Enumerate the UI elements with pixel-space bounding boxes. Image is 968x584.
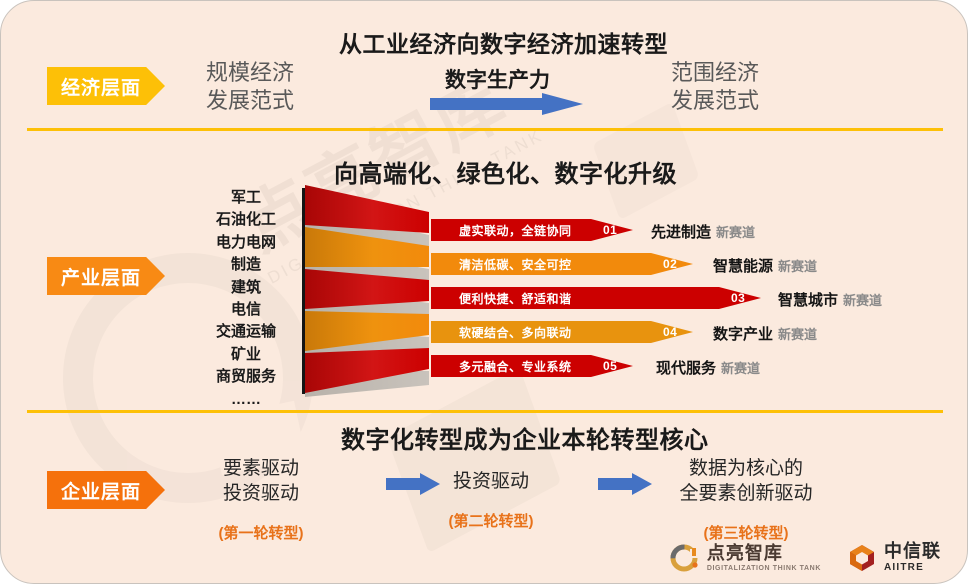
footer-logos: 点亮智库 DIGITALIZATION THINK TANK 中信联 AIITR… <box>670 542 941 573</box>
track-target-3: 智慧城市 <box>778 289 838 310</box>
track-tag-3: 新赛道 <box>843 290 882 309</box>
sector-item: 军工 <box>187 187 305 209</box>
track-target-4: 数字产业 <box>713 323 773 344</box>
stage-3-line2: 全要素创新驱动 <box>651 481 841 506</box>
enterprise-stage-1: 要素驱动 投资驱动 (第一轮转型) <box>181 456 341 543</box>
track-tag-4: 新赛道 <box>778 324 817 343</box>
infographic-slide: 点亮智库 DIGITALIZATION THINK TANK 经济层面 从工业经… <box>0 0 968 584</box>
divider-economy-industry <box>27 128 943 131</box>
sector-item: 建筑 <box>187 277 305 299</box>
economy-right-line1: 范围经济 <box>671 59 759 87</box>
sector-item: 交通运输 <box>187 321 305 343</box>
logo-dianliang-en: DIGITALIZATION THINK TANK <box>707 565 821 572</box>
logo-dianliang: 点亮智库 DIGITALIZATION THINK TANK <box>670 543 821 573</box>
dianliang-mark-icon <box>670 543 700 573</box>
industry-track-label-5: 现代服务 新赛道 <box>656 357 760 378</box>
track-number-4: 04 <box>663 321 677 343</box>
layer-badge-industry: 产业层面 <box>47 257 165 295</box>
track-target-5: 现代服务 <box>656 357 716 378</box>
stage-1-line2: 投资驱动 <box>181 481 341 506</box>
enterprise-stage-3: 数据为核心的 全要素创新驱动 (第三轮转型) <box>651 456 841 543</box>
stage-3-line1: 数据为核心的 <box>651 456 841 481</box>
economy-left-line2: 发展范式 <box>206 87 294 115</box>
stage-2-line1: 投资驱动 <box>411 469 571 494</box>
stage-3-round: (第三轮转型) <box>651 522 841 543</box>
industry-track-label-1: 先进制造 新赛道 <box>651 221 755 242</box>
economy-right-line2: 发展范式 <box>671 87 759 115</box>
track-slogan-3: 便利快捷、舒适和谐 <box>431 287 572 309</box>
industry-track-arrow-2: 清洁低碳、安全可控 02 <box>431 253 693 275</box>
sector-item: …… <box>187 389 305 411</box>
stage-1-line1: 要素驱动 <box>181 456 341 481</box>
track-number-2: 02 <box>663 253 677 275</box>
track-number-5: 05 <box>603 355 617 377</box>
layer-badge-economy-label: 经济层面 <box>61 73 141 100</box>
logo-dianliang-cn: 点亮智库 <box>707 544 821 562</box>
stage-2-round: (第二轮转型) <box>411 510 571 531</box>
logo-aiitre: 中信联 AIITRE <box>847 542 941 573</box>
track-slogan-5: 多元融合、专业系统 <box>431 355 572 377</box>
industry-track-arrow-1: 虚实联动，全链协同 01 <box>431 219 633 241</box>
enterprise-stage-2: 投资驱动 (第二轮转型) <box>411 469 571 531</box>
heading-industry: 向高端化、绿色化、数字化升级 <box>334 154 677 189</box>
industry-track-label-4: 数字产业 新赛道 <box>713 323 817 344</box>
track-slogan-1: 虚实联动，全链协同 <box>431 219 572 241</box>
logo-aiitre-en: AIITRE <box>884 563 941 573</box>
sector-item: 商贸服务 <box>187 366 305 388</box>
industry-track-arrow-5: 多元融合、专业系统 05 <box>431 355 633 377</box>
track-target-2: 智慧能源 <box>713 255 773 276</box>
track-slogan-4: 软硬结合、多向联动 <box>431 321 572 343</box>
sector-item: 制造 <box>187 254 305 276</box>
industry-track-arrow-4: 软硬结合、多向联动 04 <box>431 321 693 343</box>
economy-right-paradigm: 范围经济 发展范式 <box>671 59 759 115</box>
industry-sector-list: 军工 石油化工 电力电网 制造 建筑 电信 交通运输 矿业 商贸服务 …… <box>187 187 305 411</box>
layer-badge-industry-label: 产业层面 <box>61 263 141 290</box>
economy-left-paradigm: 规模经济 发展范式 <box>206 59 294 115</box>
track-slogan-2: 清洁低碳、安全可控 <box>431 253 572 275</box>
economy-transition-arrow <box>430 93 583 115</box>
heading-enterprise: 数字化转型成为企业本轮转型核心 <box>341 420 709 455</box>
sector-item: 矿业 <box>187 344 305 366</box>
sector-item: 电信 <box>187 299 305 321</box>
industry-track-arrow-3: 便利快捷、舒适和谐 03 <box>431 287 761 309</box>
track-tag-5: 新赛道 <box>721 358 760 377</box>
stage-1-round: (第一轮转型) <box>181 522 341 543</box>
sector-item: 石油化工 <box>187 209 305 231</box>
layer-badge-economy: 经济层面 <box>47 67 165 105</box>
track-target-1: 先进制造 <box>651 221 711 242</box>
economy-middle-label: 数字生产力 <box>445 64 550 94</box>
track-number-1: 01 <box>603 219 617 241</box>
layer-badge-enterprise-label: 企业层面 <box>61 477 141 504</box>
industry-track-label-3: 智慧城市 新赛道 <box>778 289 882 310</box>
track-number-3: 03 <box>731 287 745 309</box>
track-tag-2: 新赛道 <box>778 256 817 275</box>
economy-left-line1: 规模经济 <box>206 59 294 87</box>
industry-track-label-2: 智慧能源 新赛道 <box>713 255 817 276</box>
layer-badge-enterprise: 企业层面 <box>47 471 165 509</box>
enterprise-arrow-2 <box>598 473 652 495</box>
heading-economy: 从工业经济向数字经济加速转型 <box>339 25 668 59</box>
track-tag-1: 新赛道 <box>716 222 755 241</box>
divider-industry-enterprise <box>27 410 943 413</box>
sector-item: 电力电网 <box>187 232 305 254</box>
logo-aiitre-cn: 中信联 <box>884 542 941 560</box>
aiitre-mark-icon <box>847 543 877 573</box>
